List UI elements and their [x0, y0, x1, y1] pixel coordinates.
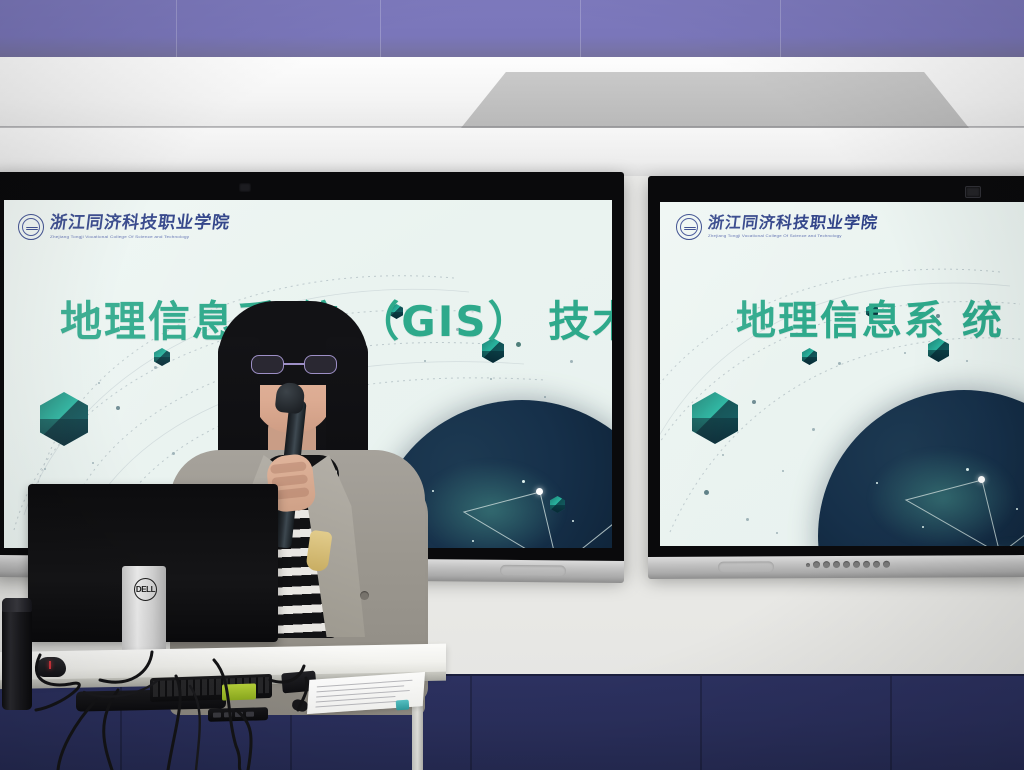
lower-soffit-band: [0, 128, 1024, 176]
university-name-cn: 浙江同济科技职业学院: [707, 215, 879, 231]
university-name-en: Zhejiang Tongji Vocational College Of Sc…: [708, 235, 878, 239]
speaker-grille: [718, 561, 774, 572]
camera-icon: [239, 183, 251, 192]
right-interactive-display[interactable]: 浙江同济科技职业学院 Zhejiang Tongji Vocational Co…: [648, 176, 1024, 574]
slide-title-right: 地理信息系 统: [736, 288, 1004, 346]
slide-right: 浙江同济科技职业学院 Zhejiang Tongji Vocational Co…: [660, 202, 1024, 546]
university-name-en: Zhejiang Tongji Vocational College Of Sc…: [50, 235, 230, 239]
right-display-bottom-bezel[interactable]: [648, 555, 1024, 579]
right-screen-surface[interactable]: 浙江同济科技职业学院 Zhejiang Tongji Vocational Co…: [660, 202, 1024, 546]
desk-cables: [0, 560, 460, 770]
university-seal-icon: [676, 214, 702, 240]
microphone-head-icon: [275, 382, 306, 415]
constellation-network: [818, 390, 1024, 546]
slide-logo-right: 浙江同济科技职业学院 Zhejiang Tongji Vocational Co…: [676, 214, 878, 240]
camera-icon: [965, 186, 981, 198]
lecture-hall-scene: 浙江同济科技职业学院 Zhejiang Tongji Vocational Co…: [0, 0, 1024, 770]
slide-logo-left: 浙江同济科技职业学院 Zhejiang Tongji Vocational Co…: [18, 214, 230, 240]
display-control-buttons[interactable]: [806, 561, 890, 568]
glasses-icon: [250, 355, 338, 375]
university-seal-icon: [18, 214, 44, 240]
globe-graphic: [818, 390, 1024, 546]
upper-acoustic-wall: [0, 0, 1024, 60]
speaker-grille: [500, 565, 566, 577]
university-name-cn: 浙江同济科技职业学院: [49, 215, 231, 232]
